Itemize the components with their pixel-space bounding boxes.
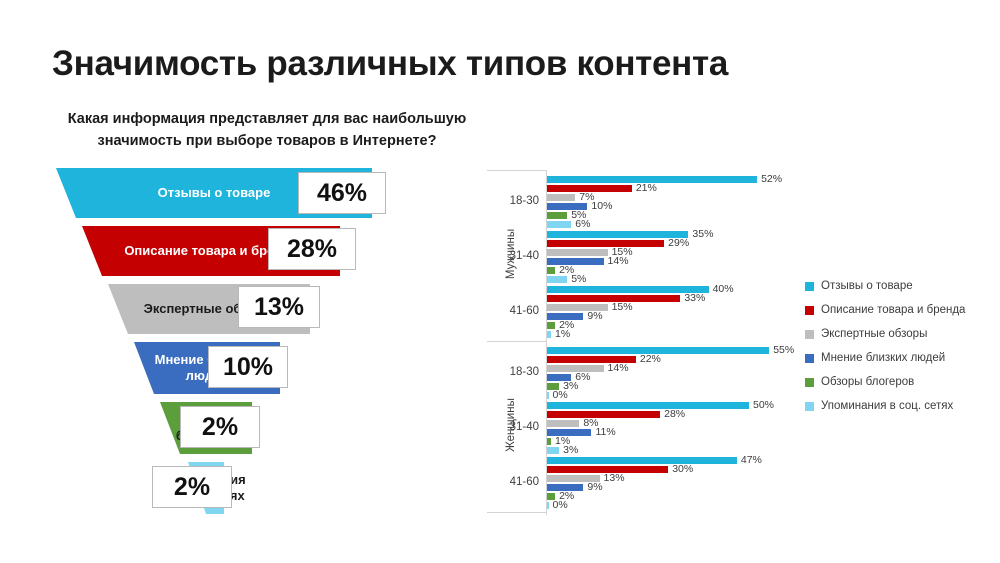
chart-bar-value: 29% — [668, 237, 689, 249]
page-title: Значимость различных типов контента — [52, 44, 728, 84]
chart-axis-frame — [487, 170, 547, 515]
legend-item[interactable]: Отзывы о товаре — [805, 274, 995, 298]
chart-bar[interactable] — [547, 420, 579, 427]
chart-category-label: 18-30 — [487, 195, 539, 207]
legend-item-label: Упоминания в соц. сетях — [821, 400, 953, 412]
chart-panel-divider — [487, 512, 547, 513]
funnel-value-box: 2% — [152, 466, 232, 508]
chart-bar-value: 35% — [692, 228, 713, 240]
chart-bar-value: 0% — [553, 499, 568, 511]
chart-bar-value: 10% — [591, 200, 612, 212]
chart-bar-value: 0% — [553, 389, 568, 401]
chart-bar[interactable] — [547, 392, 549, 399]
chart-bar-value: 5% — [571, 273, 586, 285]
chart-bar[interactable] — [547, 331, 551, 338]
chart-category-label: 41-60 — [487, 476, 539, 488]
infographic-root: Значимость различных типов контента Кака… — [0, 0, 1000, 563]
funnel-value-box: 2% — [180, 406, 260, 448]
funnel-segment-shape — [40, 462, 460, 514]
chart-category-label: 31-40 — [487, 250, 539, 262]
legend-item-label: Отзывы о товаре — [821, 280, 913, 292]
chart-bar[interactable] — [547, 194, 575, 201]
chart-category-label: 41-60 — [487, 305, 539, 317]
chart-legend: Отзывы о товареОписание товара и брендаЭ… — [805, 274, 995, 418]
legend-swatch-icon — [805, 306, 814, 315]
chart-bar-value: 55% — [773, 344, 794, 356]
legend-item-label: Мнение близких людей — [821, 352, 945, 364]
chart-bar-value: 15% — [612, 301, 633, 313]
chart-category-label: 31-40 — [487, 421, 539, 433]
legend-item-label: Обзоры блогеров — [821, 376, 914, 388]
funnel-segment[interactable]: Описание товара и бренда — [40, 226, 460, 276]
chart-bar[interactable] — [547, 267, 555, 274]
legend-item-label: Описание товара и бренда — [821, 304, 965, 316]
chart-bar-value: 1% — [555, 328, 570, 340]
legend-swatch-icon — [805, 402, 814, 411]
chart-bar-value: 21% — [636, 182, 657, 194]
chart-bar-value: 13% — [604, 472, 625, 484]
chart-bar[interactable] — [547, 212, 567, 219]
funnel-value-box: 10% — [208, 346, 288, 388]
chart-bar-value: 9% — [587, 310, 602, 322]
chart-bar[interactable] — [547, 258, 604, 265]
chart-panel-divider — [487, 170, 547, 171]
chart-bar-value: 22% — [640, 353, 661, 365]
chart-bar-value: 11% — [595, 426, 615, 438]
chart-panel-divider — [487, 341, 547, 342]
legend-item[interactable]: Описание товара и бренда — [805, 298, 995, 322]
funnel-value-box: 13% — [238, 286, 320, 328]
chart-bar-value: 50% — [753, 399, 774, 411]
chart-bar-value: 14% — [608, 255, 629, 267]
chart-bar[interactable] — [547, 240, 664, 247]
legend-swatch-icon — [805, 330, 814, 339]
legend-swatch-icon — [805, 354, 814, 363]
funnel-segment-shape — [40, 168, 460, 218]
funnel-value-box: 46% — [298, 172, 386, 214]
chart-bar-value: 40% — [713, 283, 734, 295]
chart-bar-value: 52% — [761, 173, 782, 185]
chart-bar[interactable] — [547, 402, 749, 409]
funnel-segment[interactable]: Упоминания в соц. сетях — [40, 462, 460, 514]
grouped-bar-chart: Мужчины18-3052%21%7%10%5%6%31-4035%29%15… — [487, 170, 817, 515]
chart-bar-value: 3% — [563, 444, 578, 456]
page-subtitle: Какая информация представляет для вас на… — [52, 108, 482, 153]
chart-bar[interactable] — [547, 411, 660, 418]
funnel-value-box: 28% — [268, 228, 356, 270]
chart-bar[interactable] — [547, 457, 737, 464]
funnel-segment[interactable]: Отзывы о товаре — [40, 168, 460, 218]
chart-bar[interactable] — [547, 447, 559, 454]
chart-bar-value: 47% — [741, 454, 762, 466]
legend-swatch-icon — [805, 378, 814, 387]
chart-bar-value: 6% — [575, 218, 590, 230]
chart-bar-value: 9% — [587, 481, 602, 493]
chart-bar[interactable] — [547, 249, 608, 256]
chart-category-label: 18-30 — [487, 366, 539, 378]
funnel-chart: Отзывы о товаре46%Описание товара и брен… — [40, 168, 460, 513]
legend-item[interactable]: Обзоры блогеров — [805, 370, 995, 394]
chart-bar-value: 28% — [664, 408, 685, 420]
funnel-segment-shape — [40, 226, 460, 276]
legend-item[interactable]: Мнение близких людей — [805, 346, 995, 370]
chart-bar-value: 14% — [608, 362, 629, 374]
legend-item[interactable]: Упоминания в соц. сетях — [805, 394, 995, 418]
legend-swatch-icon — [805, 282, 814, 291]
legend-item-label: Экспертные обзоры — [821, 328, 927, 340]
chart-bar[interactable] — [547, 438, 551, 445]
legend-item[interactable]: Экспертные обзоры — [805, 322, 995, 346]
chart-bar[interactable] — [547, 322, 555, 329]
chart-bar[interactable] — [547, 276, 567, 283]
chart-bar-value: 30% — [672, 463, 693, 475]
chart-bar[interactable] — [547, 502, 549, 509]
chart-bar[interactable] — [547, 221, 571, 228]
chart-bar-value: 33% — [684, 292, 705, 304]
